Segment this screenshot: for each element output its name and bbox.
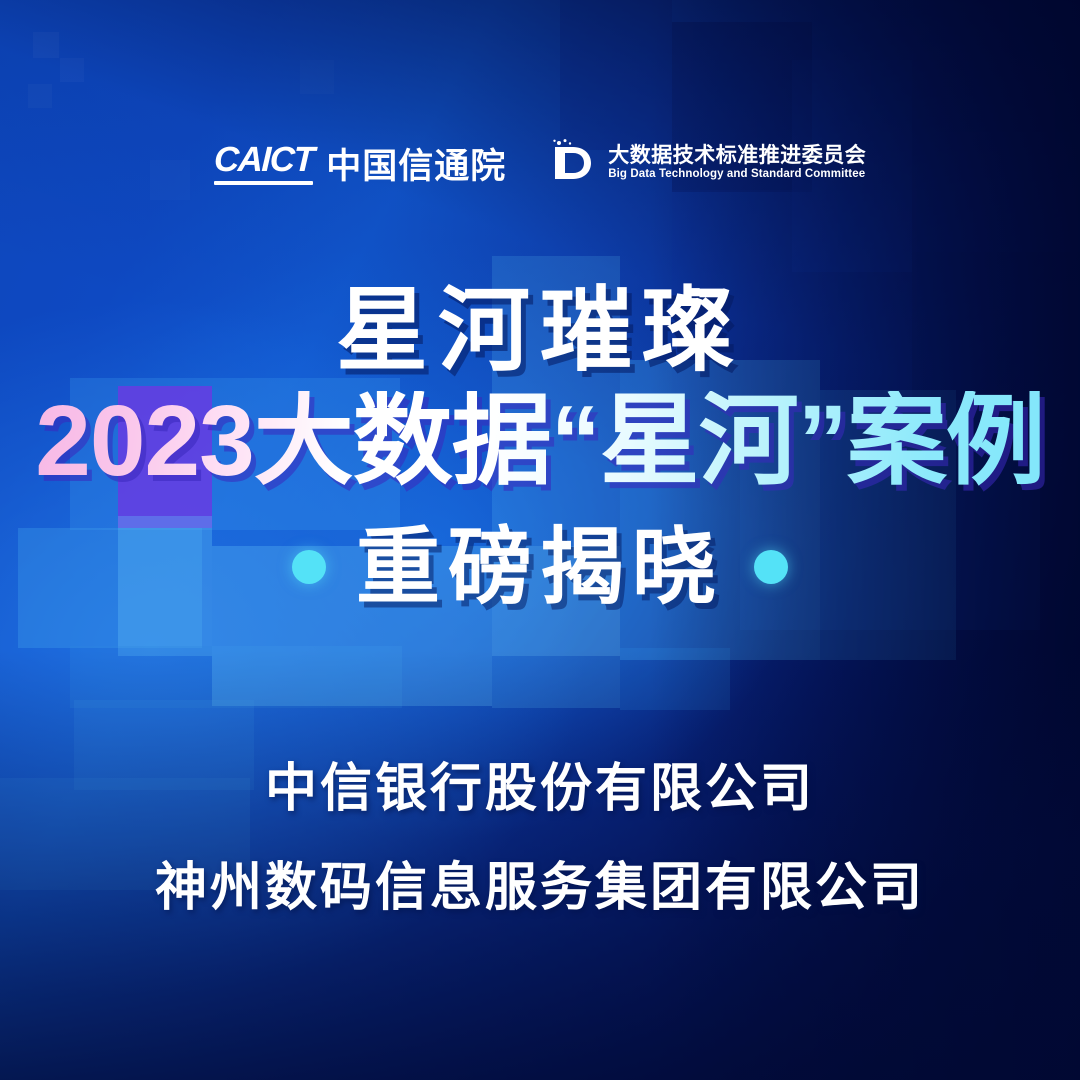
caict-underline <box>214 181 313 185</box>
winner-list: 中信银行股份有限公司 神州数码信息服务集团有限公司 <box>0 762 1080 915</box>
big-data-d-icon <box>550 138 596 188</box>
title-line-3-row: 重磅揭晓 <box>0 525 1080 609</box>
bullet-dot-right-icon <box>754 550 788 584</box>
winner-label: 神州数码信息服务集团有限公司 <box>155 859 925 917</box>
title-line-2: 2023大数据“星河”案例 <box>0 391 1080 491</box>
winner-label: 中信银行股份有限公司 <box>265 760 815 818</box>
title-line-1: 星河璀璨 <box>0 285 1080 377</box>
main-title-block: 星河璀璨 2023大数据“星河”案例 重磅揭晓 <box>0 285 1080 609</box>
caict-acronym: CAICT <box>213 142 314 177</box>
header-logos: CAICT 中国信通院 大数据技术标准推进委员会 Big Data Techno… <box>0 138 1080 188</box>
big-data-committee-logo: 大数据技术标准推进委员会 Big Data Technology and Sta… <box>550 138 866 188</box>
big-data-committee-text: 大数据技术标准推进委员会 Big Data Technology and Sta… <box>608 145 866 181</box>
big-data-committee-english: Big Data Technology and Standard Committ… <box>608 169 866 181</box>
caict-chinese-name: 中国信通院 <box>326 149 506 184</box>
big-data-committee-chinese: 大数据技术标准推进委员会 <box>608 145 866 166</box>
caict-logo: CAICT 中国信通院 <box>214 142 506 185</box>
bullet-dot-left-icon <box>292 550 326 584</box>
winner-name: 中信银行股份有限公司 <box>0 762 1080 817</box>
poster: CAICT 中国信通院 大数据技术标准推进委员会 Big Data Techno… <box>0 0 1080 1080</box>
caict-acronym-mark: CAICT <box>214 142 313 185</box>
winner-name: 神州数码信息服务集团有限公司 <box>0 861 1080 916</box>
title-line-3: 重磅揭晓 <box>356 525 724 609</box>
